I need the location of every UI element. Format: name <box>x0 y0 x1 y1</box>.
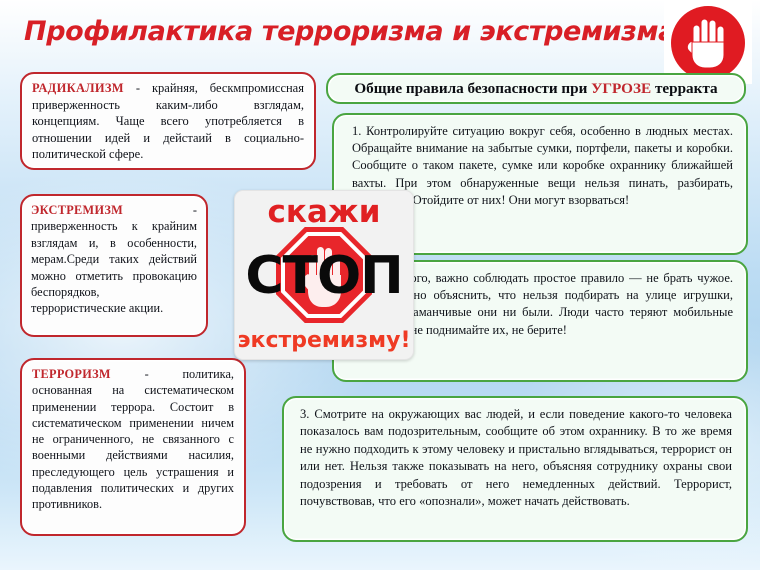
definition-card-radicalism: РАДИКАЛИЗМ - крайняя, бескмпромиссная пр… <box>20 72 316 170</box>
term-separator: - <box>124 81 152 95</box>
definition-body: приверженность к крайним взглядам и, в о… <box>31 219 197 315</box>
term-label: ЭКСТРЕМИЗМ <box>31 203 123 217</box>
raised-hand-icon <box>685 17 731 69</box>
term-label: РАДИКАЛИЗМ <box>32 81 124 95</box>
rules-header-card: Общие правила безопасности при УГРОЗЕ те… <box>326 73 746 104</box>
definition-card-extremism: ЭКСТРЕМИЗМ - приверженность к крайним вз… <box>20 194 208 337</box>
definition-body: политика, основанная на систематическом … <box>32 367 234 511</box>
definition-text: ТЕРРОРИЗМ - политика, основанная на сист… <box>22 360 244 519</box>
stop-sign-bottom-word: экстремизму! <box>235 328 413 353</box>
rules-header-before: Общие правила безопасности при <box>354 80 591 97</box>
term-separator: - <box>123 203 197 217</box>
rule-body: Смотрите на окружающих вас людей, и если… <box>300 407 732 508</box>
raised-hand-badge <box>664 0 752 84</box>
rules-header-text: Общие правила безопасности при УГРОЗЕ те… <box>354 80 717 98</box>
rule-number: 1. <box>352 124 361 138</box>
stop-extremism-sign: скажи СТОП экстремизму! <box>234 190 414 360</box>
page-title: Профилактика терроризма и экстремизма <box>24 16 676 48</box>
rules-header-after: терракта <box>651 80 717 97</box>
term-separator: - <box>111 367 183 381</box>
definition-text: РАДИКАЛИЗМ - крайняя, бескмпромиссная пр… <box>22 74 314 169</box>
definition-card-terrorism: ТЕРРОРИЗМ - политика, основанная на сист… <box>20 358 246 536</box>
rules-header-accent: УГРОЗЕ <box>591 80 651 97</box>
rule-text: 3. Смотрите на окружающих вас людей, и е… <box>284 398 746 516</box>
poster-canvas: Профилактика терроризма и экстремизма РА… <box>0 0 760 570</box>
rule-number: 3. <box>300 407 309 421</box>
stop-sign-mid-word: СТОП <box>235 249 413 303</box>
stop-sign-top-word: скажи <box>235 195 413 229</box>
definition-text: ЭКСТРЕМИЗМ - приверженность к крайним вз… <box>22 196 206 323</box>
title-bar: Профилактика терроризма и экстремизма <box>0 16 700 48</box>
term-label: ТЕРРОРИЗМ <box>32 367 111 381</box>
rule-card-3: 3. Смотрите на окружающих вас людей, и е… <box>282 396 748 542</box>
